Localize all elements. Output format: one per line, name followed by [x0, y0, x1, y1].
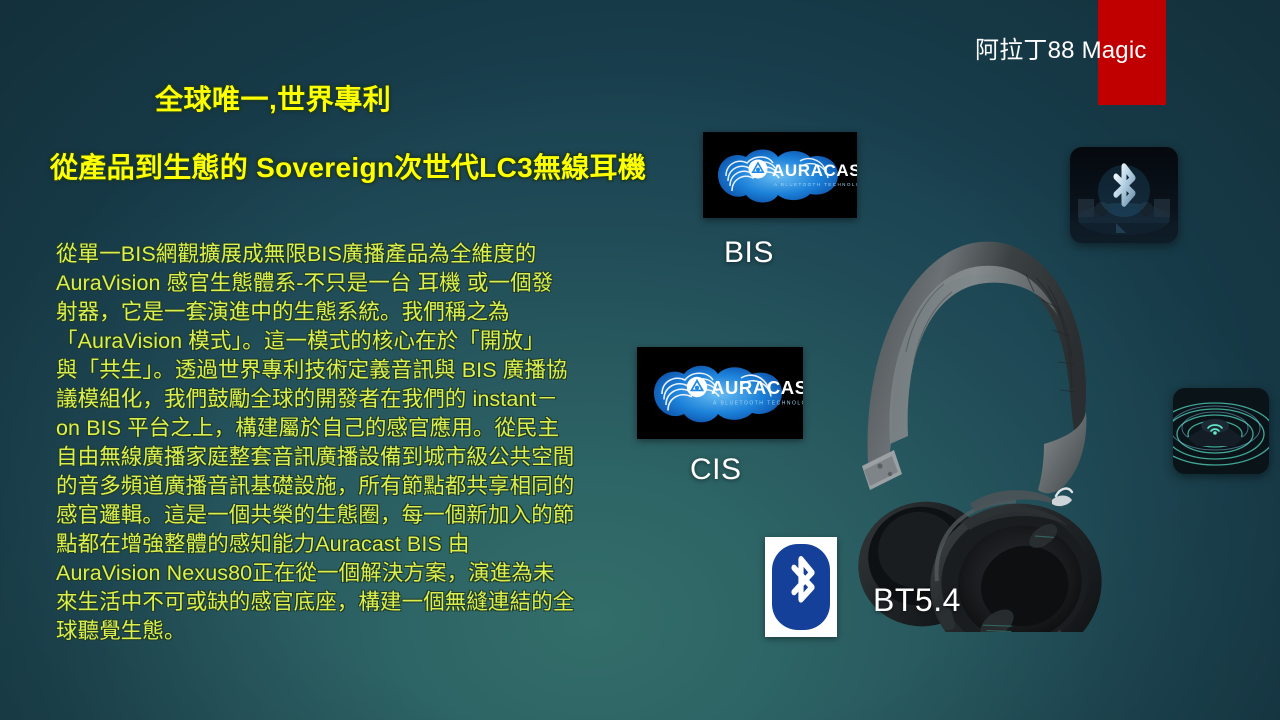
auracast-wordmark: AURACAST: [772, 161, 857, 180]
auracast-wordmark: AURACAST: [711, 377, 803, 398]
bluetooth-badge-tile: [765, 537, 837, 637]
brand-label: 阿拉丁88 Magic: [975, 30, 1235, 65]
wireless-waves-icon: [1173, 388, 1269, 474]
headphones-product-image: [820, 212, 1102, 632]
headphones-icon: [820, 212, 1102, 632]
auracast-logo-icon: AURACAST A BLUETOOTH TECHNOLOGY: [637, 347, 803, 439]
page-subtitle: 從產品到生態的 Sovereign次世代LC3無線耳機: [50, 146, 646, 186]
slide-canvas: 阿拉丁88 Magic 全球唯一,世界專利 從產品到生態的 Sovereign次…: [0, 0, 1280, 720]
auracast-subtext: A BLUETOOTH TECHNOLOGY: [774, 182, 857, 187]
auracast-logo-icon: AURACAST A BLUETOOTH TECHNOLOGY: [703, 132, 857, 218]
tile-label-bis: BIS: [724, 236, 774, 270]
bluetooth-glow-icon: [1070, 147, 1178, 243]
page-title: 全球唯一,世界專利: [155, 78, 391, 118]
bluetooth-glow-photo-tile: [1070, 147, 1178, 243]
wireless-waves-photo-tile: [1173, 388, 1269, 474]
auracast-logo-tile-bis: AURACAST A BLUETOOTH TECHNOLOGY: [703, 132, 857, 218]
tile-label-cis: CIS: [690, 453, 742, 487]
auracast-logo-tile-cis: AURACAST A BLUETOOTH TECHNOLOGY: [637, 347, 803, 439]
bluetooth-icon: [765, 537, 837, 637]
body-paragraph: 從單一BIS網觀擴展成無限BIS廣播產品為全維度的 AuraVision 感官生…: [56, 240, 616, 646]
tile-label-bt54: BT5.4: [873, 582, 961, 619]
auracast-subtext: A BLUETOOTH TECHNOLOGY: [713, 401, 803, 407]
